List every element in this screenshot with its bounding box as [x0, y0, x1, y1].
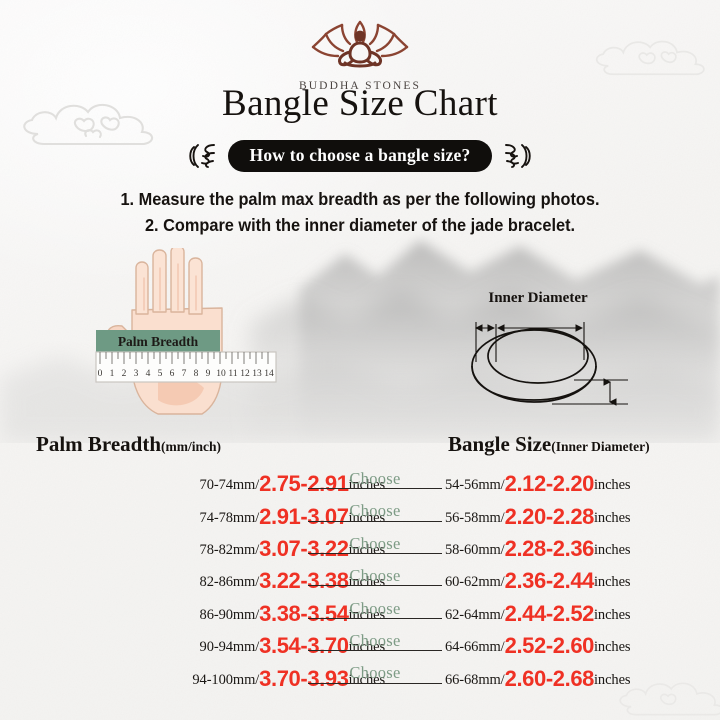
svg-text:0: 0 — [98, 369, 103, 379]
svg-text:1: 1 — [110, 369, 115, 379]
bangle-size-inch: 2.20-2.28 — [505, 504, 594, 529]
palm-breadth-illustration: Palm Breadth 012 345 678 91011 121314 — [60, 248, 310, 420]
bangle-size-mm: 60-62mm/ — [445, 574, 505, 590]
choose-write-in-line[interactable] — [308, 585, 442, 586]
bangle-size-mm: 56-58mm/ — [445, 510, 505, 526]
choose-write-in-line[interactable] — [308, 488, 442, 489]
choose-label: Choose — [308, 664, 442, 681]
bangle-size-cell: 60-62mm/2.36-2.44inches — [445, 568, 630, 594]
palm-breadth-mm: 86-90mm/ — [200, 607, 260, 623]
choose-label: Choose — [308, 502, 442, 519]
column-header-bangle-size-main: Bangle Size — [448, 432, 551, 456]
palm-breadth-mm: 70-74mm/ — [200, 477, 260, 493]
table-row: 94-100mm/3.70-3.93inchesChoose66-68mm/2.… — [0, 662, 720, 694]
svg-text:12: 12 — [240, 369, 250, 379]
svg-text:5: 5 — [158, 369, 163, 379]
choose-slot[interactable]: Choose — [308, 567, 442, 586]
choose-label: Choose — [308, 535, 442, 552]
bangle-size-inch: 2.36-2.44 — [505, 568, 594, 593]
palm-breadth-mm: 78-82mm/ — [200, 542, 260, 558]
choose-write-in-line[interactable] — [308, 618, 442, 619]
bangle-size-inch: 2.52-2.60 — [505, 633, 594, 658]
table-row: 86-90mm/3.38-3.54inchesChoose62-64mm/2.4… — [0, 598, 720, 630]
svg-text:3: 3 — [134, 369, 139, 379]
palm-breadth-mm: 94-100mm/ — [192, 672, 259, 688]
svg-text:14: 14 — [264, 369, 274, 379]
instruction-step-2: 2. Compare with the inner diameter of th… — [18, 212, 702, 238]
bangle-size-unit: inches — [594, 510, 630, 526]
table-row: 78-82mm/3.07-3.22inchesChoose58-60mm/2.2… — [0, 533, 720, 565]
bangle-size-inch: 2.12-2.20 — [505, 471, 594, 496]
inner-diameter-illustration: Inner Diameter — [452, 288, 652, 420]
column-header-palm-breadth-main: Palm Breadth — [36, 432, 161, 456]
table-row: 74-78mm/2.91-3.07inchesChoose56-58mm/2.2… — [0, 500, 720, 532]
table-row: 70-74mm/2.75-2.91inchesChoose54-56mm/2.1… — [0, 468, 720, 500]
instruction-step-1: 1. Measure the palm max breadth as per t… — [18, 186, 702, 212]
inner-diameter-label: Inner Diameter — [488, 290, 588, 306]
choose-label: Choose — [308, 632, 442, 649]
bangle-ring-icon: Inner Diameter — [452, 288, 652, 420]
bangle-size-unit: inches — [594, 574, 630, 590]
flourish-ornament-right-icon — [500, 139, 534, 173]
svg-text:9: 9 — [206, 369, 211, 379]
bangle-size-unit: inches — [594, 607, 630, 623]
choose-write-in-line[interactable] — [308, 683, 442, 684]
bangle-size-mm: 64-66mm/ — [445, 639, 505, 655]
page-title: Bangle Size Chart — [0, 82, 720, 125]
svg-text:2: 2 — [122, 369, 127, 379]
bangle-size-inch: 2.44-2.52 — [505, 601, 594, 626]
bangle-size-unit: inches — [594, 477, 630, 493]
size-chart-page: BUDDHA STONES Bangle Size Chart How to c… — [0, 0, 720, 720]
bangle-size-mm: 58-60mm/ — [445, 542, 505, 558]
bangle-size-cell: 62-64mm/2.44-2.52inches — [445, 601, 630, 627]
bangle-size-cell: 66-68mm/2.60-2.68inches — [445, 666, 630, 692]
column-header-palm-breadth: Palm Breadth(mm/inch) — [36, 432, 221, 457]
svg-text:13: 13 — [252, 369, 262, 379]
open-palm-hand-icon: Palm Breadth 012 345 678 91011 121314 — [60, 248, 310, 420]
svg-text:7: 7 — [182, 369, 187, 379]
palm-breadth-label: Palm Breadth — [118, 334, 199, 349]
svg-text:6: 6 — [170, 369, 175, 379]
palm-breadth-mm: 90-94mm/ — [200, 639, 260, 655]
flourish-ornament-left-icon — [186, 139, 220, 173]
choose-slot[interactable]: Choose — [308, 632, 442, 651]
size-table: 70-74mm/2.75-2.91inchesChoose54-56mm/2.1… — [0, 468, 720, 695]
bangle-size-unit: inches — [594, 542, 630, 558]
bangle-size-inch: 2.60-2.68 — [505, 666, 594, 691]
table-row: 90-94mm/3.54-3.70inchesChoose64-66mm/2.5… — [0, 630, 720, 662]
instructions: 1. Measure the palm max breadth as per t… — [18, 186, 702, 238]
choose-label: Choose — [308, 470, 442, 487]
choose-label: Choose — [308, 567, 442, 584]
column-header-bangle-size-sub: (Inner Diameter) — [551, 439, 649, 454]
choose-write-in-line[interactable] — [308, 553, 442, 554]
svg-text:10: 10 — [216, 369, 226, 379]
subtitle-pill: How to choose a bangle size? — [228, 140, 493, 172]
palm-breadth-mm: 82-86mm/ — [200, 574, 260, 590]
choose-label: Choose — [308, 600, 442, 617]
bangle-size-cell: 56-58mm/2.20-2.28inches — [445, 504, 630, 530]
palm-breadth-mm: 74-78mm/ — [200, 510, 260, 526]
bangle-size-cell: 64-66mm/2.52-2.60inches — [445, 633, 630, 659]
column-header-bangle-size: Bangle Size(Inner Diameter) — [448, 432, 650, 457]
table-row: 82-86mm/3.22-3.38inchesChoose60-62mm/2.3… — [0, 565, 720, 597]
bangle-size-mm: 62-64mm/ — [445, 607, 505, 623]
choose-slot[interactable]: Choose — [308, 502, 442, 521]
choose-write-in-line[interactable] — [308, 650, 442, 651]
bangle-size-cell: 58-60mm/2.28-2.36inches — [445, 536, 630, 562]
bangle-size-cell: 54-56mm/2.12-2.20inches — [445, 471, 630, 497]
subtitle-row: How to choose a bangle size? — [0, 139, 720, 173]
ruler-icon: 012 345 678 91011 121314 — [96, 352, 276, 382]
svg-text:11: 11 — [228, 369, 237, 379]
choose-write-in-line[interactable] — [308, 521, 442, 522]
choose-slot[interactable]: Choose — [308, 470, 442, 489]
bangle-size-mm: 54-56mm/ — [445, 477, 505, 493]
brand-logo: BUDDHA STONES — [0, 12, 720, 92]
bangle-size-unit: inches — [594, 639, 630, 655]
svg-text:8: 8 — [194, 369, 199, 379]
column-header-palm-breadth-sub: (mm/inch) — [161, 439, 221, 454]
lotus-meditation-icon — [300, 12, 420, 74]
choose-slot[interactable]: Choose — [308, 600, 442, 619]
choose-slot[interactable]: Choose — [308, 664, 442, 683]
bangle-size-unit: inches — [594, 672, 630, 688]
choose-slot[interactable]: Choose — [308, 535, 442, 554]
bangle-size-mm: 66-68mm/ — [445, 672, 505, 688]
bangle-size-inch: 2.28-2.36 — [505, 536, 594, 561]
svg-text:4: 4 — [146, 369, 151, 379]
